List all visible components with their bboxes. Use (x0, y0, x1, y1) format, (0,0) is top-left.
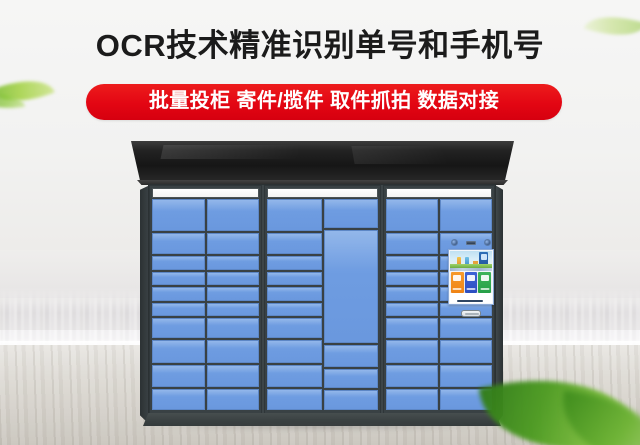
locker-door[interactable] (207, 389, 260, 410)
locker-door[interactable] (267, 340, 322, 363)
locker-door[interactable] (207, 199, 260, 231)
screen-button-send[interactable] (478, 272, 491, 293)
locker-door[interactable] (207, 272, 260, 285)
locker-door[interactable] (207, 256, 260, 269)
page-title: OCR技术精准识别单号和手机号 (0, 27, 640, 65)
locker-module-left (149, 185, 262, 414)
locker-door[interactable] (152, 389, 205, 410)
locker-door[interactable] (386, 233, 438, 254)
locker-door[interactable] (267, 389, 322, 410)
locker-door[interactable] (386, 318, 438, 338)
touchscreen-terminal[interactable] (448, 239, 494, 324)
screen-button-pickup[interactable] (465, 272, 478, 293)
locker-door[interactable] (267, 303, 322, 316)
ir-sensor-icon (466, 241, 476, 245)
canopy-highlight-secondary (352, 146, 447, 164)
locker-door[interactable] (324, 369, 379, 389)
terminal-screen[interactable] (448, 249, 494, 305)
door-column (152, 199, 205, 410)
locker-door[interactable] (152, 318, 205, 338)
locker-door[interactable] (267, 199, 322, 231)
locker-door[interactable] (152, 199, 205, 231)
module-header-strip (152, 188, 259, 198)
locker-canopy (131, 141, 514, 183)
door-grid (267, 199, 378, 410)
sensor-row (451, 239, 491, 246)
door-column (324, 199, 379, 410)
promo-banner-image: OCR技术精准识别单号和手机号 批量投柜 寄件/揽件 取件抓拍 数据对接 (0, 0, 640, 445)
camera-icon-left (451, 239, 458, 246)
locker-door[interactable] (152, 340, 205, 363)
locker-door[interactable] (440, 340, 492, 363)
locker-door[interactable] (152, 256, 205, 269)
locker-door[interactable] (386, 365, 438, 386)
locker-door[interactable] (386, 256, 438, 269)
locker-door[interactable] (440, 365, 492, 386)
locker-door[interactable] (207, 233, 260, 254)
screen-progress-bar (457, 300, 483, 302)
locker-door[interactable] (324, 345, 379, 366)
locker-door[interactable] (267, 318, 322, 338)
locker-door[interactable] (267, 272, 322, 285)
module-header-strip (386, 188, 492, 198)
locker-door[interactable] (152, 287, 205, 300)
screen-action-buttons (450, 271, 492, 293)
screen-illustration (450, 251, 492, 268)
locker-door[interactable] (207, 365, 260, 386)
locker-door[interactable] (152, 272, 205, 285)
locker-door[interactable] (152, 233, 205, 254)
locker-door[interactable] (386, 287, 438, 300)
locker-door[interactable] (386, 389, 438, 410)
locker-door[interactable] (207, 287, 260, 300)
door-column (267, 199, 322, 410)
locker-door[interactable] (324, 199, 379, 228)
feature-badge-label: 批量投柜 寄件/揽件 取件抓拍 数据对接 (149, 91, 499, 111)
locker-door[interactable] (152, 303, 205, 316)
locker-module-center (264, 185, 381, 414)
screen-footer (450, 293, 492, 303)
screen-button-deposit[interactable] (451, 272, 464, 293)
locker-ground-shadow (134, 424, 510, 431)
feature-badge: 批量投柜 寄件/揽件 取件抓拍 数据对接 (86, 84, 562, 120)
door-column (386, 199, 438, 410)
door-column (207, 199, 260, 410)
locker-door[interactable] (267, 233, 322, 254)
locker-door[interactable] (267, 256, 322, 269)
locker-door[interactable] (386, 199, 438, 231)
terminal-bay-panel (324, 230, 379, 343)
smart-parcel-locker (140, 141, 505, 426)
card-reader-slot[interactable] (461, 310, 481, 317)
locker-door[interactable] (386, 340, 438, 363)
locker-door[interactable] (440, 199, 492, 231)
illustration-ground (450, 264, 492, 268)
locker-door[interactable] (324, 390, 379, 410)
canopy-highlight (160, 145, 301, 159)
locker-door[interactable] (207, 340, 260, 363)
locker-door[interactable] (207, 303, 260, 316)
locker-door[interactable] (267, 365, 322, 386)
locker-door[interactable] (207, 318, 260, 338)
camera-icon-right (484, 239, 491, 246)
door-grid (152, 199, 259, 410)
locker-door[interactable] (152, 365, 205, 386)
locker-door[interactable] (386, 272, 438, 285)
locker-door[interactable] (267, 287, 322, 300)
locker-door[interactable] (386, 303, 438, 316)
module-header-strip (267, 188, 378, 198)
